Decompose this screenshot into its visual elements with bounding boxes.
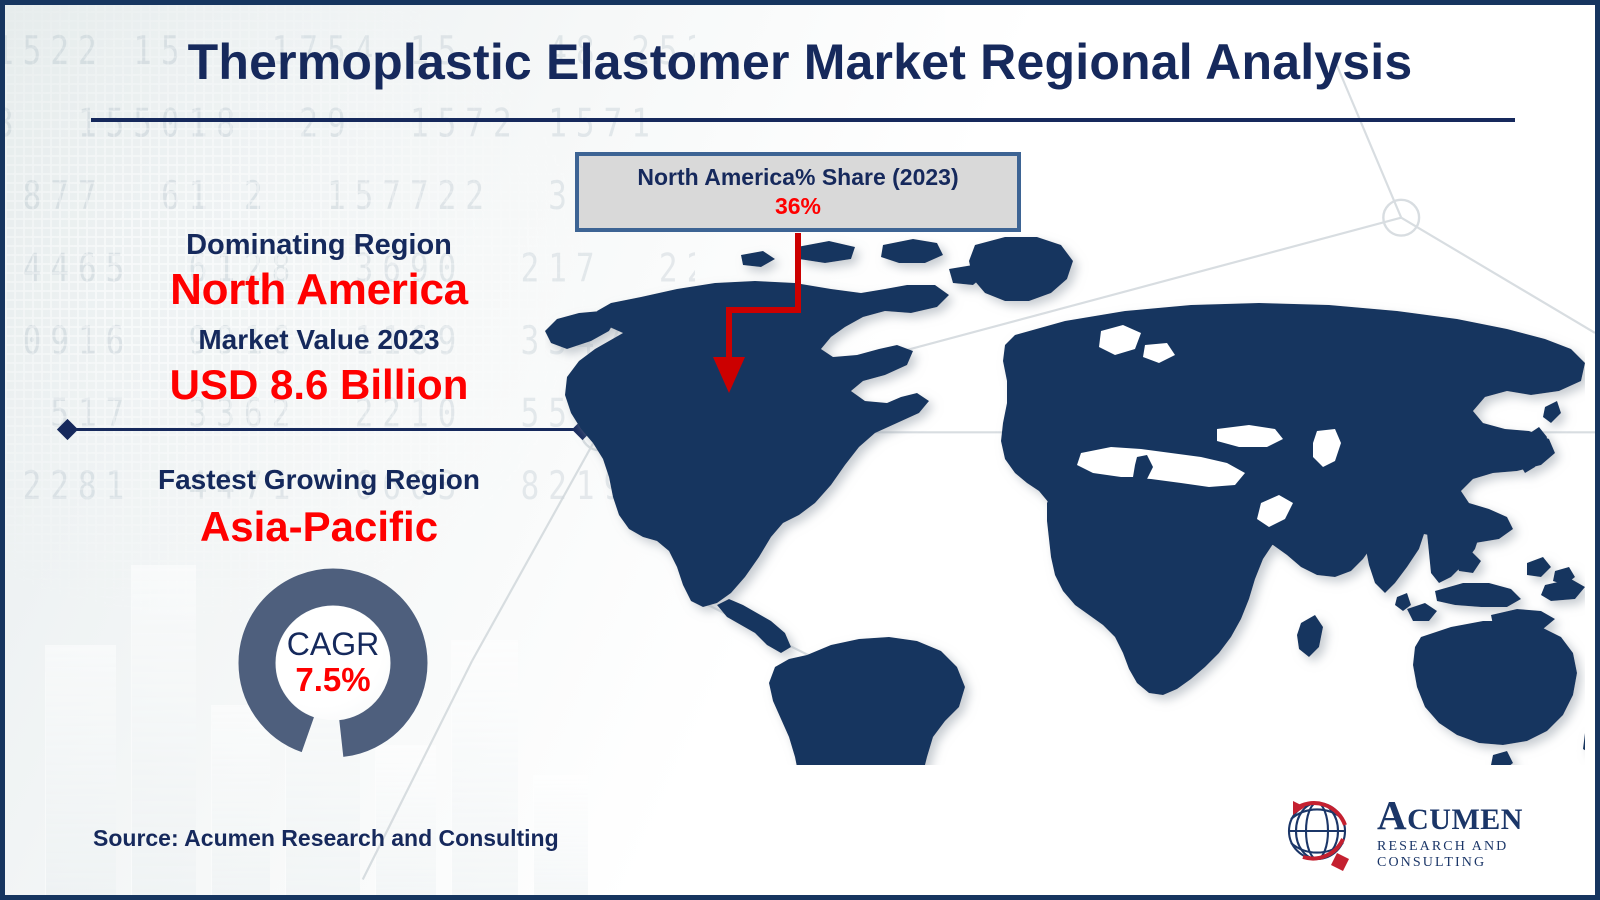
- market-value-value: USD 8.6 Billion: [51, 361, 587, 409]
- dominating-region-value: North America: [51, 265, 587, 315]
- logo-wordmark: ACUMEN RESEARCH AND CONSULTING: [1377, 795, 1573, 871]
- title-underline: [91, 118, 1515, 122]
- source-text: Source: Acumen Research and Consulting: [93, 825, 559, 852]
- callout-title: North America% Share (2023): [637, 165, 958, 191]
- dominating-region-label: Dominating Region: [51, 229, 587, 262]
- world-map-svg: [545, 185, 1585, 765]
- donut-center: CAGR 7.5%: [276, 606, 390, 720]
- logo-tagline: RESEARCH AND CONSULTING: [1377, 839, 1573, 871]
- north-america-share-callout: North America% Share (2023) 36%: [575, 152, 1021, 232]
- page-title: Thermoplastic Elastomer Market Regional …: [5, 33, 1595, 91]
- logo-name-rest: CUMEN: [1407, 803, 1523, 836]
- logo-name-initial: A: [1377, 792, 1407, 838]
- callout-value: 36%: [775, 194, 821, 220]
- cagr-value: 7.5%: [295, 663, 370, 698]
- logo-name: ACUMEN: [1377, 795, 1573, 836]
- map-landmasses: [545, 237, 1585, 765]
- fastest-growing-region-label: Fastest Growing Region: [51, 464, 587, 496]
- world-map: [545, 185, 1585, 765]
- cagr-label: CAGR: [287, 628, 379, 662]
- section-divider: [67, 428, 583, 431]
- cagr-donut-chart: CAGR 7.5%: [238, 568, 428, 758]
- market-value-label: Market Value 2023: [51, 324, 587, 356]
- acumen-logo: ACUMEN RESEARCH AND CONSULTING: [1273, 787, 1573, 873]
- fastest-growing-region-value: Asia-Pacific: [51, 503, 587, 551]
- infographic-canvas: 1522 15 1754 15 48 2521 15 3 155018 29 1…: [0, 0, 1600, 900]
